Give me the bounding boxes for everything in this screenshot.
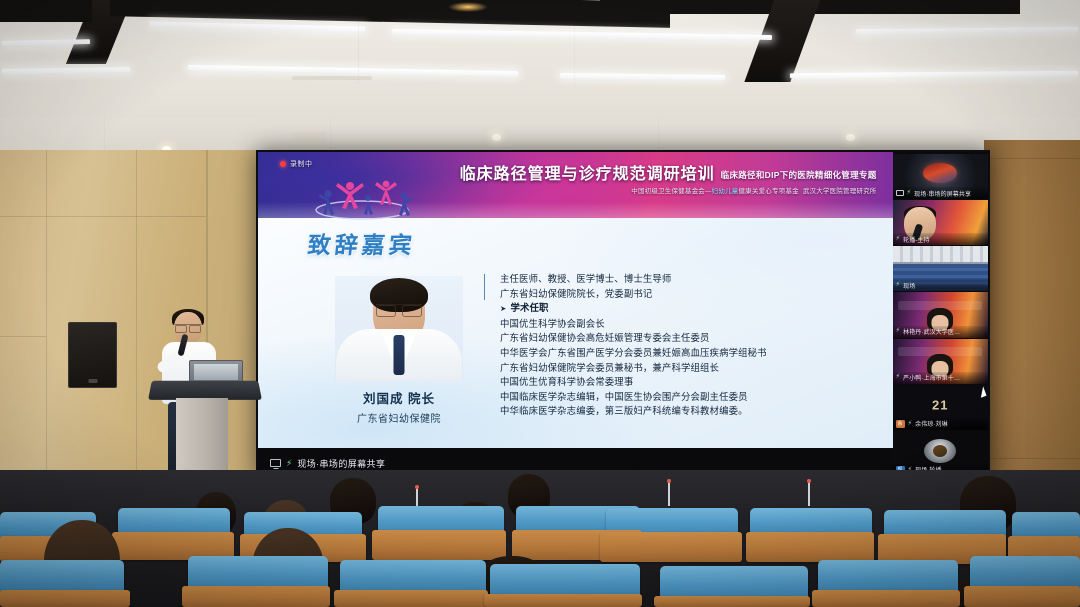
conference-hall-scene: 录制中 xyxy=(0,0,1080,607)
portrait-collar xyxy=(405,331,417,361)
participant-tile[interactable]: ⚡林艳丹·武汉大学医院管… xyxy=(893,292,988,337)
downlight xyxy=(492,134,501,141)
microphone-icon: ⚡ xyxy=(896,328,901,335)
audience-desk xyxy=(334,590,488,607)
wall-seam xyxy=(46,150,47,510)
audience-desk xyxy=(654,596,810,607)
participant-caption: ⚡现场·串场的屏幕共享 xyxy=(893,187,988,199)
speaker-card: 刘国成 院长 广东省妇幼保健院 xyxy=(310,276,488,425)
wall-speaker-icon xyxy=(68,322,117,388)
downlight xyxy=(846,134,855,141)
microphone-icon: ⚡ xyxy=(908,421,913,428)
participant-label: 现场 xyxy=(903,281,915,290)
slide-header-banner: 录制中 xyxy=(258,152,893,218)
org-highlight: 妇幼儿童 xyxy=(712,188,739,195)
linear-light xyxy=(856,27,1078,34)
bio-divider xyxy=(484,274,485,300)
participant-label: 余伟琼·刘琳 xyxy=(915,419,948,428)
participant-caption: ⚡林艳丹·武汉大学医院管… xyxy=(893,326,988,338)
desk-microphone xyxy=(808,482,810,506)
audience-desk xyxy=(484,594,642,607)
screen-share-icon: ⚡ xyxy=(286,459,292,468)
slide-title-block: 临床路径管理与诊疗规范调研培训 临床路径和DIP下的医院精细化管理专题 中国初级… xyxy=(460,166,877,195)
participant-caption: ⚡现场 xyxy=(893,279,988,291)
org-part-3: 武汉大学医院管理研究所 xyxy=(803,188,877,195)
wall-seam xyxy=(0,216,206,217)
audience-seat xyxy=(188,556,328,590)
monitor-icon xyxy=(270,459,281,467)
audience-desk xyxy=(812,590,960,607)
linear-light xyxy=(790,71,1078,79)
microphone-icon: ⚡ xyxy=(896,282,901,289)
speaker-bio-list: 主任医师、教授、医学博士、博士生导师广东省妇幼保健院院长，党委副书记学术任职中国… xyxy=(500,272,877,419)
ceiling-dark-band xyxy=(0,0,92,22)
microphone-icon: ⚡ xyxy=(896,374,901,381)
participant-tile[interactable]: ⚡严小鸭·上海市第十人民… xyxy=(893,339,988,384)
org-part-2: 健康关爱心专项基金 xyxy=(738,188,798,195)
participant-label: 严小鸭·上海市第十人民… xyxy=(903,373,965,382)
audience-seat xyxy=(0,560,124,594)
slide-title-organizations: 中国初级卫生保健基金会—妇幼儿童健康关爱心专项基金 武汉大学医院管理研究所 xyxy=(631,185,876,195)
led-display-screen[interactable]: 录制中 xyxy=(256,150,990,480)
wall-seam xyxy=(984,158,1080,159)
linear-light xyxy=(188,65,518,76)
participant-tile[interactable]: ⚡现场 xyxy=(893,246,988,291)
audience-desk xyxy=(964,586,1080,607)
monitor-icon xyxy=(896,190,904,196)
audience-desk xyxy=(0,590,130,607)
audience-desk xyxy=(600,532,742,562)
participant-caption: ⚡严小鸭·上海市第十人民… xyxy=(893,372,988,384)
wall-seam xyxy=(1028,160,1029,458)
portrait-glasses-icon xyxy=(376,304,422,315)
participant-tile[interactable]: ⚡轮播·主持 xyxy=(893,200,988,245)
bio-line: 中国优生优育科学协会常委理事 xyxy=(500,375,877,390)
participant-video-rail[interactable]: ⚡现场·串场的屏幕共享⚡轮播·主持⚡现场⚡林艳丹·武汉大学医院管…⚡严小鸭·上海… xyxy=(893,152,988,478)
warm-ceiling-light xyxy=(448,2,488,12)
bio-line: 中国临床医学杂志编辑，中国医生协会围产分会副主任委员 xyxy=(500,390,877,405)
lectern-top xyxy=(148,381,262,400)
slide-body: 致辞嘉宾 刘国成 院长 广东省妇幼保健院 xyxy=(258,218,893,448)
shared-slide: 录制中 xyxy=(258,152,893,478)
laptop-screen xyxy=(194,364,238,380)
bio-line: 中国优生科学协会副会长 xyxy=(500,317,877,332)
linear-light xyxy=(560,73,725,80)
recording-indicator: 录制中 xyxy=(280,159,313,169)
audience-seat xyxy=(340,560,486,594)
desk-microphone xyxy=(668,482,670,506)
bio-line: 广东省妇幼保健院学会委员兼秘书，兼产科学组组长 xyxy=(500,361,877,376)
recording-label: 录制中 xyxy=(290,159,313,169)
bio-line: 主任医师、教授、医学博士、博士生导师 xyxy=(500,272,877,287)
screen-share-label: 现场·串场的屏幕共享 xyxy=(297,457,385,470)
speaker-organization: 广东省妇幼保健院 xyxy=(357,410,441,425)
org-part-1: 中国初级卫生保健基金会— xyxy=(631,188,711,195)
linear-light xyxy=(150,21,365,31)
audience-desk xyxy=(372,530,506,560)
event-logo-icon xyxy=(298,170,426,226)
portrait-tie xyxy=(394,335,405,375)
audience-seat xyxy=(660,566,808,600)
ceiling-vent xyxy=(292,76,372,80)
speaker-portrait-photo xyxy=(335,276,463,381)
right-wall xyxy=(984,140,1080,510)
speaker-name: 刘国成 院长 xyxy=(363,388,435,407)
presenter-glasses-icon xyxy=(175,324,201,331)
bio-line: 中华医学会广东省围产医学分会委员兼妊娠高血压疾病学组秘书 xyxy=(500,346,877,361)
bio-line: 广东省妇幼保健院院长，党委副书记 xyxy=(500,287,877,302)
audience-seat xyxy=(970,556,1080,590)
wall-seam xyxy=(984,458,1080,459)
participant-tile[interactable]: ⚡现场·串场的屏幕共享 xyxy=(893,154,988,199)
slide-title-main: 临床路径管理与诊疗规范调研培训 xyxy=(460,166,715,182)
portrait-collar xyxy=(381,331,393,361)
wall-seam xyxy=(0,336,46,337)
participant-initial-badge: 余 xyxy=(896,420,905,428)
audience-desk xyxy=(182,586,330,607)
bio-line: 广东省妇幼保健协会高危妊娠管理专委会主任委员 xyxy=(500,331,877,346)
participant-label: 林艳丹·武汉大学医院管… xyxy=(903,327,965,336)
wall-seam xyxy=(136,150,137,510)
participant-label: 现场·串场的屏幕共享 xyxy=(914,189,971,198)
slide-title-sub: 临床路径和DIP下的医院精细化管理专题 xyxy=(721,169,877,182)
microphone-icon: ⚡ xyxy=(896,236,901,243)
audience-seat xyxy=(490,564,640,598)
bio-line: 中华临床医学杂志编委，第三版妇产科统编专科教材编委。 xyxy=(500,404,877,419)
section-heading: 致辞嘉宾 xyxy=(306,226,418,260)
participant-caption: ⚡轮播·主持 xyxy=(893,233,988,245)
ceiling-seam xyxy=(574,8,575,86)
linear-light xyxy=(392,29,772,40)
record-dot-icon xyxy=(280,161,286,167)
audience-desk xyxy=(746,532,874,562)
ceiling-seam xyxy=(358,6,359,84)
participant-label: 轮播·主持 xyxy=(903,235,930,244)
bio-section-heading: 学术任职 xyxy=(500,301,877,317)
participant-caption: 余⚡余伟琼·刘琳 xyxy=(893,418,988,430)
linear-light xyxy=(2,67,130,74)
microphone-icon: ⚡ xyxy=(907,190,912,197)
audience-seat xyxy=(818,560,958,594)
participant-tile[interactable]: 21余⚡余伟琼·刘琳 xyxy=(893,385,988,430)
